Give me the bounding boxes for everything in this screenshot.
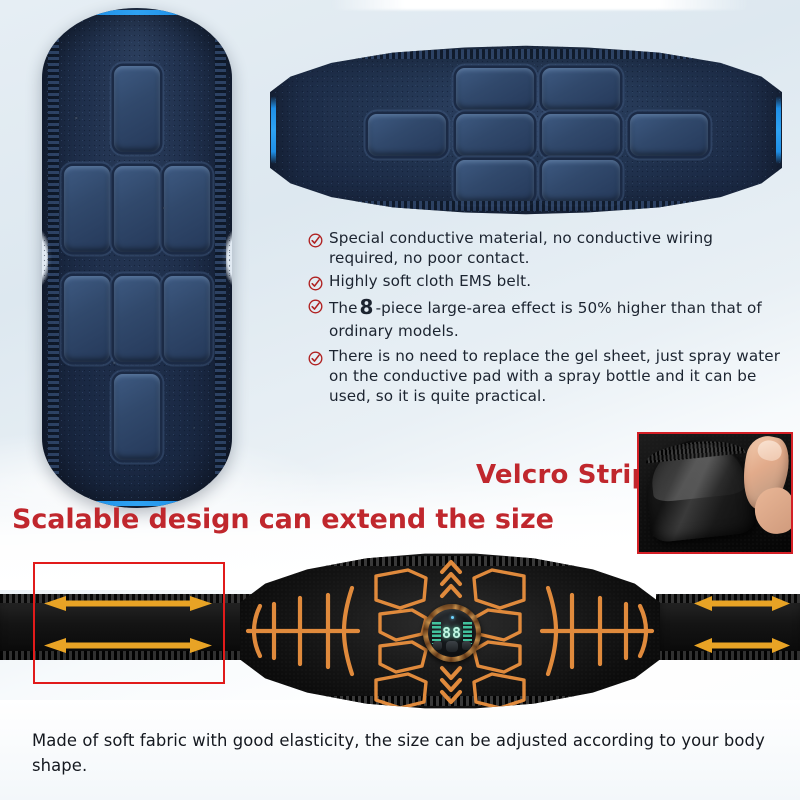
conductive-pad — [630, 114, 708, 156]
vertical-belt-photo — [42, 8, 232, 508]
conductive-pad — [456, 114, 534, 156]
horizontal-belt-photo — [270, 44, 782, 216]
feature-text: The8-piece large-area effect is 50% high… — [329, 294, 786, 340]
led-control-pod[interactable]: 88 — [423, 604, 481, 662]
conductive-pad — [456, 68, 534, 110]
feature-item: There is no need to replace the gel shee… — [308, 346, 786, 406]
check-circle-icon — [308, 351, 323, 366]
conductive-pad — [64, 166, 110, 252]
conductive-pad — [64, 276, 110, 362]
led-display-value: 88 — [428, 624, 476, 642]
pod-button-right[interactable] — [462, 641, 471, 650]
velcro-strip-label: Velcro Strip — [476, 460, 650, 490]
belt-blue-trim-top — [65, 10, 209, 15]
scalable-callout-box — [33, 562, 225, 684]
feature-text: Highly soft cloth EMS belt. — [329, 271, 531, 291]
belt-blue-trim-right — [776, 96, 781, 165]
conductive-pad — [114, 66, 160, 152]
pod-display-face: 88 — [428, 609, 476, 657]
belt-stitch-right — [215, 24, 226, 492]
check-circle-icon — [308, 299, 323, 314]
infographic-page: Special conductive material, no conducti… — [0, 0, 800, 800]
feature-item: Special conductive material, no conducti… — [308, 228, 786, 268]
pod-buttons[interactable] — [428, 641, 476, 652]
belt-stitch-left — [48, 24, 59, 492]
belt-core-panel: 88 — [240, 552, 660, 710]
feature-text: There is no need to replace the gel shee… — [329, 346, 786, 406]
conductive-pad — [542, 68, 620, 110]
pod-button-left[interactable] — [433, 641, 442, 650]
belt-stitch-bottom — [296, 201, 757, 211]
inset-velcro-flap — [642, 435, 756, 543]
belt-strap-right — [656, 594, 800, 660]
conductive-pad — [542, 114, 620, 156]
page-headline: Scalable design can extend the size — [12, 504, 554, 535]
top-light-streak — [330, 0, 750, 10]
feature-text: Special conductive material, no conducti… — [329, 228, 786, 268]
conductive-pad — [164, 166, 210, 252]
belt-stitch-top — [296, 49, 757, 59]
check-circle-icon — [308, 276, 323, 291]
feature-emphasis-number: 8 — [358, 295, 376, 319]
pod-button-power[interactable] — [446, 641, 458, 652]
conductive-pad — [114, 166, 160, 252]
velcro-inset-photo — [637, 432, 793, 554]
belt-blue-trim-left — [271, 96, 276, 165]
feature-item: The8-piece large-area effect is 50% high… — [308, 294, 786, 340]
conductive-pad — [114, 276, 160, 362]
bottom-caption: Made of soft fabric with good elasticity… — [32, 728, 772, 779]
power-indicator-dot — [451, 616, 454, 619]
check-circle-icon — [308, 233, 323, 248]
feature-list: Special conductive material, no conducti… — [308, 228, 786, 409]
feature-item: Highly soft cloth EMS belt. — [308, 271, 786, 291]
conductive-pad — [456, 160, 534, 202]
feature-text-pre: The — [329, 299, 358, 317]
feature-text-post: -piece large-area effect is 50% higher t… — [329, 299, 762, 339]
conductive-pad — [542, 160, 620, 202]
conductive-pad — [164, 276, 210, 362]
conductive-pad — [114, 374, 160, 460]
conductive-pad — [368, 114, 446, 156]
